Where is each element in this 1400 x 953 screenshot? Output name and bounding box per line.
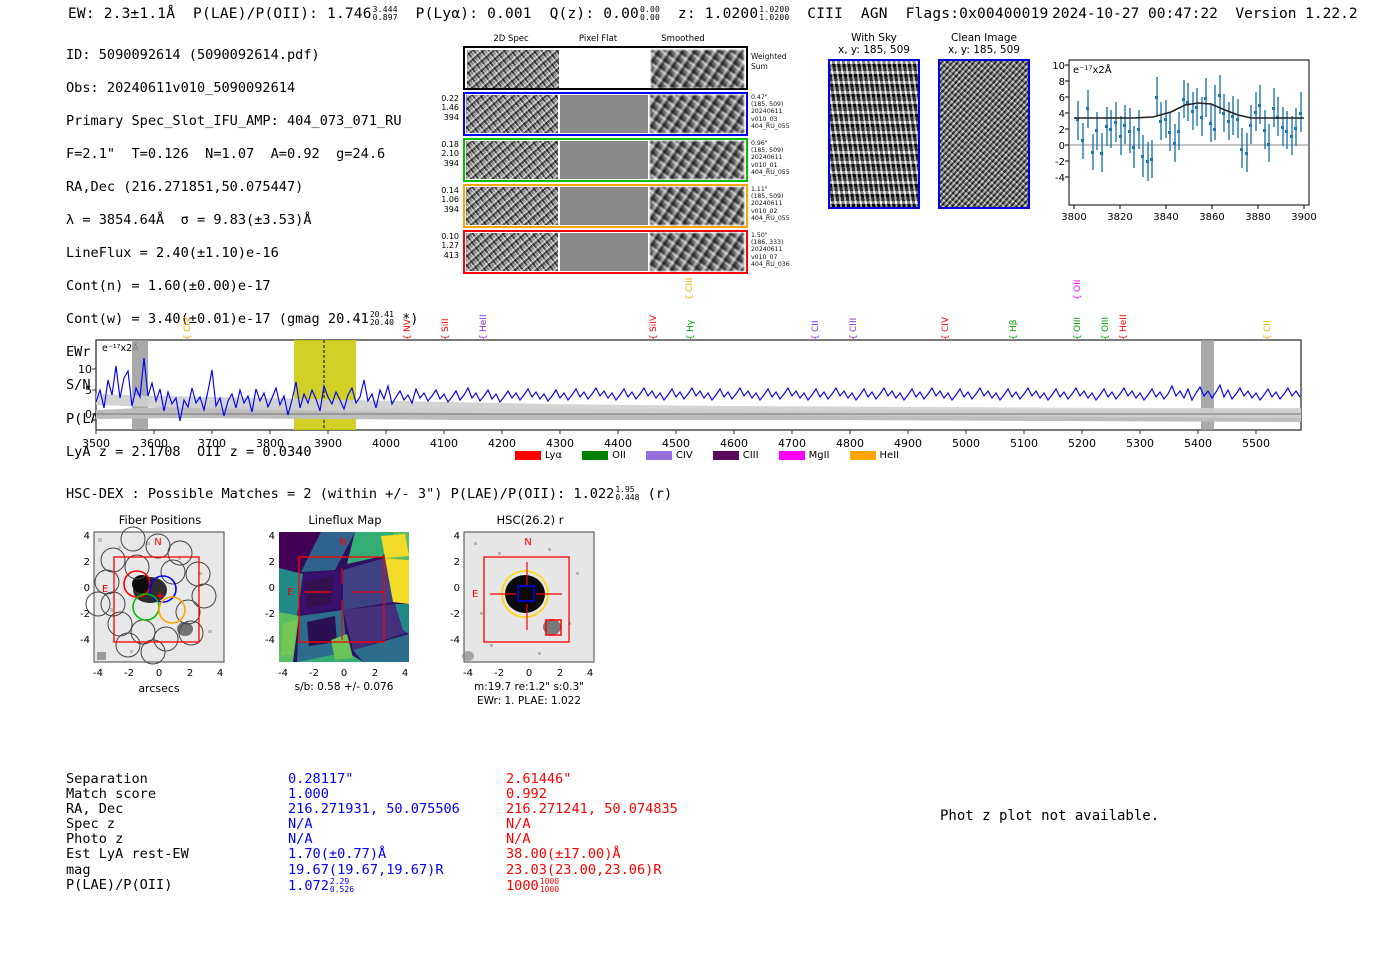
montage-row-0-left-label: 0.22 1.46 394: [425, 94, 459, 122]
hscdex-header-text: HSC-DEX : Possible Matches = 2 (within +…: [66, 486, 614, 502]
row-1-2dspec-image: [466, 141, 558, 179]
fiber-compass-e: E: [102, 584, 108, 595]
svg-text:{: {: [1119, 334, 1129, 340]
line-marker-CIV-5132: CIV {: [941, 316, 951, 340]
svg-text:-4: -4: [80, 635, 90, 646]
svg-text:OIII: OIII: [1073, 317, 1083, 332]
header-z-lo: 1.0200: [759, 14, 789, 22]
svg-text:2: 2: [454, 557, 460, 568]
svg-text:3820: 3820: [1107, 212, 1132, 223]
svg-text:CIII: CIII: [849, 318, 859, 332]
svg-text:{: {: [1263, 334, 1273, 340]
svg-text:CIV: CIV: [941, 316, 951, 332]
match1-radec: 216.271241, 50.074835: [506, 802, 678, 817]
svg-text:{: {: [403, 334, 413, 340]
svg-text:-4: -4: [450, 635, 460, 646]
row-1-pixelflat-image: [560, 141, 648, 179]
svg-text:2: 2: [187, 668, 193, 679]
montage-col-title-pixelflat: Pixel Flat: [558, 34, 638, 44]
svg-text:{: {: [183, 334, 193, 340]
spec2d-montage: 2D Spec Pixel Flat Smoothed Weighted Sum…: [463, 34, 753, 256]
header-agn-tag: AGN: [861, 6, 888, 22]
row-3-pixelflat-image: [560, 233, 648, 271]
legend-label-mgii: MgII: [809, 450, 830, 461]
header-plya: P(Lyα): 0.001: [416, 6, 532, 22]
svg-text:CIV: CIV: [183, 316, 193, 332]
fiber-compass-n: N: [154, 537, 161, 548]
svg-text:{: {: [1073, 334, 1083, 340]
svg-text:4: 4: [587, 668, 593, 679]
lineflux-map-panel: Lineflux Map N E 420 -2-4 -4-20 24 s/b: …: [243, 512, 428, 712]
table-row: mag 19.67(19.67,19.67)R 23.03(23.00,23.0…: [66, 863, 678, 878]
info-id: ID: 5090092614 (5090092614.pdf): [66, 47, 418, 64]
line-marker-HeII-4144: HeII {: [479, 314, 489, 340]
svg-text:4: 4: [454, 531, 460, 542]
svg-text:{: {: [649, 334, 659, 340]
svg-text:10: 10: [1052, 61, 1065, 72]
svg-text:-2: -2: [494, 668, 504, 679]
line-marker-OIII-b: OIII {: [1101, 317, 1111, 340]
svg-text:4300: 4300: [546, 437, 574, 450]
table-row: RA, Dec 216.271931, 50.075506 216.271241…: [66, 802, 678, 817]
row-3-smoothed-image: [650, 233, 744, 271]
info-primary-spec: Primary Spec_Slot_IFU_AMP: 404_073_071_R…: [66, 113, 418, 130]
with-sky-subtitle: x, y: 185, 509: [828, 44, 920, 56]
svg-text:{: {: [1009, 334, 1019, 340]
match0-est-lya-ew: 1.70(±0.77)Å: [288, 847, 506, 862]
svg-text:-4: -4: [1055, 173, 1065, 184]
header-qz-value: 0.00: [603, 6, 639, 22]
montage-row-1: [463, 138, 748, 182]
line-marker-CIII-upper: CIII {: [685, 278, 695, 300]
photz-unavailable-note: Phot z plot not available.: [940, 808, 1159, 824]
svg-text:NV: NV: [403, 318, 413, 332]
svg-text:CIII: CIII: [685, 278, 695, 292]
svg-text:Hγ: Hγ: [686, 319, 696, 332]
svg-text:4400: 4400: [604, 437, 632, 450]
svg-text:SiII: SiII: [441, 318, 451, 332]
fiber-positions-title: Fiber Positions: [119, 513, 202, 527]
montage-row-3-left-label: 0.10 1.27 413: [425, 232, 459, 260]
row-label-match-score: Match score: [66, 787, 288, 802]
with-sky-panel: With Sky x, y: 185, 509: [828, 32, 920, 209]
svg-text:3900: 3900: [1291, 212, 1316, 223]
svg-text:5300: 5300: [1126, 437, 1154, 450]
legend-swatch-civ: [646, 451, 672, 460]
montage-row-0: [463, 92, 748, 136]
svg-text:3700: 3700: [198, 437, 226, 450]
legend-label-ciii: CIII: [743, 450, 759, 461]
line-fit-plot: e⁻¹⁷x2Å 1086 420 -2-4 380038203840 38603…: [1033, 50, 1323, 250]
row-label-mag: mag: [66, 863, 288, 878]
svg-text:CII: CII: [1263, 320, 1273, 332]
svg-text:2: 2: [1059, 125, 1065, 136]
header-timestamp: 2024-10-27 00:47:22: [1052, 6, 1218, 22]
row-2-2dspec-image: [466, 187, 558, 225]
svg-text:CII: CII: [811, 320, 821, 332]
svg-text:0: 0: [156, 668, 162, 679]
with-sky-title: With Sky: [828, 32, 920, 44]
info-lineflux: LineFlux = 2.40(±1.10)e-16: [66, 245, 418, 262]
weighted-sum-pixelflat-image: [561, 50, 649, 88]
legend-label-heii: HeII: [880, 450, 900, 461]
row-label-spec-z: Spec z: [66, 817, 288, 832]
table-row: Est LyA rest-EW 1.70(±0.77)Å 38.00(±17.0…: [66, 847, 678, 862]
hscdex-header: HSC-DEX : Possible Matches = 2 (within +…: [66, 486, 672, 502]
clean-image-subtitle: x, y: 185, 509: [938, 44, 1030, 56]
line-marker-CIII-4886: CIII {: [849, 318, 859, 340]
line-marker-CII-4816: CII {: [811, 320, 821, 340]
row-label-est-lya-ew: Est LyA rest-EW: [66, 847, 288, 862]
fiber-positions-panel: Fiber Positions N E 420 -2-4 -4-20 24 ar…: [58, 512, 243, 712]
hsc-rband-xlabel: m:19.7 re:1.2" s:0.3": [474, 681, 584, 693]
row-0-2dspec-image: [466, 95, 558, 133]
svg-text:{: {: [441, 334, 451, 340]
svg-text:{: {: [685, 294, 695, 300]
header-qz-lo: 0.00: [640, 14, 660, 22]
svg-text:-2: -2: [80, 609, 90, 620]
svg-text:3840: 3840: [1153, 212, 1178, 223]
svg-text:4500: 4500: [662, 437, 690, 450]
svg-text:{: {: [1073, 294, 1083, 300]
hsc-rband-title: HSC(26.2) r: [497, 513, 564, 527]
line-marker-NV: NV {: [403, 318, 413, 340]
montage-row-weighted-sum: [463, 46, 748, 90]
svg-text:3800: 3800: [256, 437, 284, 450]
svg-text:4: 4: [84, 531, 90, 542]
match0-separation: 0.28117": [288, 772, 506, 787]
clean-image-panel: Clean Image x, y: 185, 509: [938, 32, 1030, 209]
table-row: Match score 1.000 0.992: [66, 787, 678, 802]
match1-score: 0.992: [506, 787, 678, 802]
svg-text:Hβ: Hβ: [1009, 319, 1019, 332]
montage-row-1-left-label: 0.18 2.10 394: [425, 140, 459, 168]
line-marker-OII-upper: OII {: [1073, 280, 1083, 300]
svg-text:{: {: [686, 334, 696, 340]
svg-text:HeII: HeII: [479, 314, 489, 332]
legend-label-oii: OII: [612, 450, 626, 461]
svg-text:-2: -2: [124, 668, 134, 679]
full-spectrum-svg: CIV { NV { SiII { HeII { CIII { SiIV { H…: [66, 270, 1316, 470]
svg-text:OIII: OIII: [1101, 317, 1111, 332]
match1-est-lya-ew: 38.00(±17.00)Å: [506, 847, 678, 862]
legend-label-civ: CIV: [676, 450, 693, 461]
match1-spec-z: N/A: [506, 817, 678, 832]
hscdex-suffix: (r): [648, 486, 673, 502]
montage-row-2-left-label: 0.14 1.06 394: [425, 186, 459, 214]
weighted-sum-smoothed-image: [651, 50, 744, 88]
svg-text:4900: 4900: [894, 437, 922, 450]
header-version: Version 1.22.2: [1235, 6, 1357, 22]
match0-radec: 216.271931, 50.075506: [288, 802, 506, 817]
header-classification: CIII: [807, 6, 843, 22]
svg-text:4: 4: [402, 668, 408, 679]
legend-swatch-oii: [582, 451, 608, 460]
match-table: Separation 0.28117" 2.61446" Match score…: [66, 772, 678, 894]
legend-label-lya: Lyα: [545, 450, 562, 461]
row-1-smoothed-image: [650, 141, 744, 179]
hsc-compass-e: E: [472, 589, 478, 600]
header-meta: 2024-10-27 00:47:22 Version 1.22.2: [1052, 6, 1358, 22]
svg-text:0: 0: [269, 583, 275, 594]
svg-text:3900: 3900: [314, 437, 342, 450]
montage-row-3: [463, 230, 748, 274]
svg-text:-2: -2: [1055, 157, 1065, 168]
montage-row-1-right-label: 0.96" (185, 509) 20240611 v010_01 404_RU…: [751, 140, 790, 176]
match1-mag: 23.03(23.00,23.06)R: [506, 863, 678, 878]
weighted-sum-label: Weighted Sum: [751, 52, 787, 71]
table-row: Separation 0.28117" 2.61446": [66, 772, 678, 787]
svg-text:5500: 5500: [1242, 437, 1270, 450]
fiber-positions-xlabel: arcsecs: [138, 682, 180, 695]
svg-text:4: 4: [269, 531, 275, 542]
header-plae-lo: 0.897: [373, 14, 398, 22]
row-label-plae: P(LAE)/P(OII): [66, 878, 288, 894]
svg-text:6: 6: [1059, 93, 1065, 104]
header-qz-label: Q(z):: [550, 6, 595, 22]
line-marker-Hgamma: Hγ {: [686, 319, 696, 340]
header-z-value: 1.0200: [705, 6, 759, 22]
lineflux-compass-n: N: [339, 537, 346, 548]
svg-text:-4: -4: [93, 668, 103, 679]
match0-plae-value: 1.072: [288, 878, 329, 894]
svg-text:4200: 4200: [488, 437, 516, 450]
svg-text:{: {: [941, 334, 951, 340]
match0-spec-z: N/A: [288, 817, 506, 832]
svg-text:3860: 3860: [1199, 212, 1224, 223]
match0-plae: 1.0722.290.526: [288, 878, 506, 894]
hsc-compass-n: N: [524, 537, 531, 548]
row-0-smoothed-image: [650, 95, 744, 133]
header-plae-label: P(LAE)/P(OII):: [193, 6, 318, 22]
lineflux-compass-e: E: [287, 587, 293, 598]
weighted-sum-2dspec-image: [467, 50, 559, 88]
svg-text:2: 2: [84, 557, 90, 568]
header-z-label: z:: [678, 6, 696, 22]
montage-row-2-right-label: 1.11" (185, 509) 20240611 v010_02 404_RU…: [751, 186, 790, 222]
lineflux-map-xlabel: s/b: 0.58 +/- 0.076: [295, 681, 394, 693]
line-marker-Hbeta: Hβ {: [1009, 319, 1019, 340]
svg-text:{: {: [849, 334, 859, 340]
full-spectrum-panel: CIV { NV { SiII { HeII { CIII { SiIV { H…: [66, 270, 1316, 470]
info-radec: RA,Dec (216.271851,50.075447): [66, 179, 418, 196]
row-label-radec: RA, Dec: [66, 802, 288, 817]
montage-row-0-right-label: 0.47" (185, 509) 20240611 v010_03 404_RU…: [751, 94, 790, 130]
svg-text:5100: 5100: [1010, 437, 1038, 450]
svg-text:{: {: [1101, 334, 1111, 340]
clean-image-image: [938, 59, 1030, 209]
svg-text:4: 4: [1059, 109, 1065, 120]
info-wavelength-sigma: λ = 3854.64Å σ = 9.83(±3.53)Å: [66, 212, 418, 229]
match1-plae: 100010001000: [506, 878, 678, 894]
legend-swatch-heii: [850, 451, 876, 460]
line-fit-units: e⁻¹⁷x2Å: [1073, 63, 1112, 76]
row-2-smoothed-image: [650, 187, 744, 225]
spectrum-ytick-10: 10: [78, 363, 92, 376]
hscdex-lo: 0.448: [615, 494, 639, 502]
svg-text:3800: 3800: [1061, 212, 1086, 223]
svg-text:4000: 4000: [372, 437, 400, 450]
with-sky-image: [828, 59, 920, 209]
row-2-pixelflat-image: [560, 187, 648, 225]
hsc-rband-caption2: EWr: 1. PLAE: 1.022: [477, 695, 581, 707]
svg-text:-4: -4: [278, 668, 288, 679]
svg-text:5000: 5000: [952, 437, 980, 450]
spectrum-legend: Lyα OII CIV CIII MgII HeII: [0, 450, 1400, 462]
header-flags: Flags:0x00400019: [906, 6, 1049, 22]
spectrum-ytick-5: 5: [85, 384, 92, 397]
svg-text:{: {: [479, 334, 489, 340]
legend-swatch-lya: [515, 451, 541, 460]
line-marker-SiIV: SiIV {: [649, 314, 659, 340]
svg-text:2: 2: [269, 557, 275, 568]
line-marker-CII-right: CII {: [1263, 320, 1273, 340]
montage-row-2: [463, 184, 748, 228]
svg-text:0: 0: [84, 583, 90, 594]
lineflux-map-title: Lineflux Map: [308, 513, 381, 527]
match1-separation: 2.61446": [506, 772, 678, 787]
match0-score: 1.000: [288, 787, 506, 802]
svg-text:5200: 5200: [1068, 437, 1096, 450]
svg-text:0: 0: [526, 668, 532, 679]
header-ew: EW: 2.3±1.1Å: [68, 6, 175, 22]
svg-text:0: 0: [1059, 141, 1065, 152]
match1-plae-value: 1000: [506, 878, 539, 894]
match0-plae-lo: 0.526: [330, 886, 354, 894]
svg-text:4600: 4600: [720, 437, 748, 450]
line-marker-HeII-5512: HeII {: [1119, 314, 1129, 340]
svg-text:3600: 3600: [140, 437, 168, 450]
montage-row-3-right-label: 1.50" (186, 333) 20240611 v010_07 404_RU…: [751, 232, 790, 268]
svg-text:-2: -2: [450, 609, 460, 620]
svg-text:{: {: [811, 334, 821, 340]
line-marker-OIII-a: OIII {: [1073, 317, 1083, 340]
svg-text:3880: 3880: [1245, 212, 1270, 223]
info-conditions: F=2.1" T=0.126 N=1.07 A=0.92 g=24.6: [66, 146, 418, 163]
svg-text:3500: 3500: [82, 437, 110, 450]
header-summary-line: EW: 2.3±1.1Å P(LAE)/P(OII): 1.7463.4440.…: [68, 6, 1048, 22]
svg-text:-4: -4: [463, 668, 473, 679]
match0-mag: 19.67(19.67,19.67)R: [288, 863, 506, 878]
svg-text:8: 8: [1059, 77, 1065, 88]
line-fit-svg: e⁻¹⁷x2Å 1086 420 -2-4 380038203840 38603…: [1033, 50, 1323, 250]
svg-text:OII: OII: [1073, 280, 1083, 292]
svg-text:SiIV: SiIV: [649, 314, 659, 332]
row-0-pixelflat-image: [560, 95, 648, 133]
svg-text:4800: 4800: [836, 437, 864, 450]
line-marker-CIV-3643: CIV {: [183, 316, 193, 340]
table-row: P(LAE)/P(OII) 1.0722.290.526 10001000100…: [66, 878, 678, 894]
line-marker-SiII: SiII {: [441, 318, 451, 340]
svg-text:4700: 4700: [778, 437, 806, 450]
montage-col-title-smoothed: Smoothed: [643, 34, 723, 44]
header-plae-value: 1.746: [327, 6, 372, 22]
svg-text:4100: 4100: [430, 437, 458, 450]
legend-swatch-ciii: [713, 451, 739, 460]
svg-text:2: 2: [557, 668, 563, 679]
montage-col-title-2dspec: 2D Spec: [471, 34, 551, 44]
row-3-2dspec-image: [466, 233, 558, 271]
svg-text:HeII: HeII: [1119, 314, 1129, 332]
clean-image-title: Clean Image: [938, 32, 1030, 44]
match1-plae-lo: 1000: [540, 886, 559, 894]
svg-text:-2: -2: [309, 668, 319, 679]
row-label-separation: Separation: [66, 772, 288, 787]
spectrum-ytick-0: 0: [85, 408, 92, 421]
svg-text:-2: -2: [265, 609, 275, 620]
svg-text:5400: 5400: [1184, 437, 1212, 450]
svg-text:0: 0: [454, 583, 460, 594]
legend-swatch-mgii: [779, 451, 805, 460]
svg-text:-4: -4: [265, 635, 275, 646]
svg-text:0: 0: [341, 668, 347, 679]
table-row: Spec z N/A N/A: [66, 817, 678, 832]
svg-text:4: 4: [217, 668, 223, 679]
hsc-rband-panel: HSC(26.2) r N E 420 -2-4 -4-20 24 m:19.7…: [428, 512, 613, 727]
row-label-photo-z: Photo z: [66, 832, 288, 847]
info-obs: Obs: 20240611v010_5090092614: [66, 80, 418, 97]
svg-text:2: 2: [372, 668, 378, 679]
